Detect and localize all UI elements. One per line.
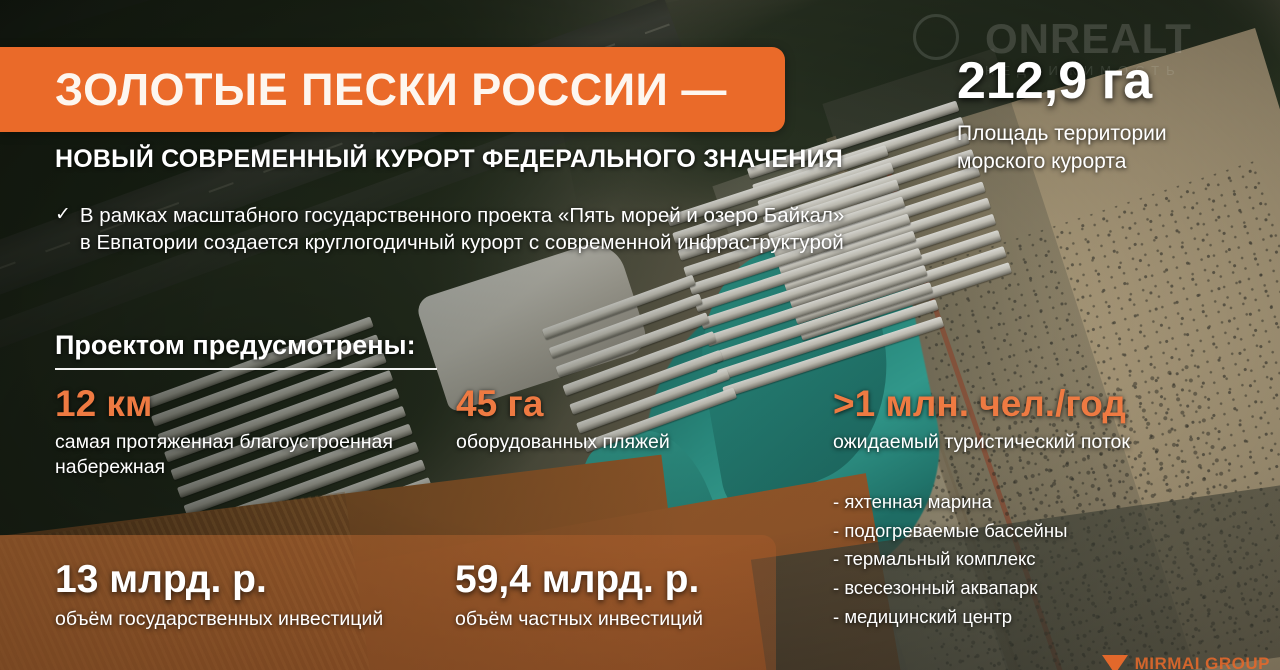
- page-title: ЗОЛОТЫЕ ПЕСКИ РОССИИ —: [55, 67, 727, 112]
- lead-paragraph: ✓ В рамках масштабного государственного …: [55, 202, 845, 256]
- list-item: - медицинский центр: [833, 603, 1067, 632]
- page-subtitle: НОВЫЙ СОВРЕМЕННЫЙ КУРОРТ ФЕДЕРАЛЬНОГО ЗН…: [55, 145, 843, 174]
- stat-embankment-value: 12 км: [55, 385, 415, 424]
- stat-beaches-value: 45 га: [456, 385, 676, 424]
- infographic-canvas: ONREALT НЕДВИЖИМОСТЬ MIRMAI GROUP ЗОЛОТЫ…: [0, 0, 1280, 670]
- feature-label: яхтенная марина: [844, 491, 992, 512]
- stat-tourist-flow-caption: ожидаемый туристический поток: [833, 430, 1263, 455]
- stat-area: 212,9 га Площадь территории морского кур…: [957, 55, 1257, 175]
- features-list: - яхтенная марина - подогреваемые бассей…: [833, 488, 1067, 631]
- investment-state: 13 млрд. р. объём государственных инвест…: [55, 560, 425, 632]
- section-heading-text: Проектом предусмотрены:: [55, 330, 416, 360]
- stat-embankment: 12 км самая протяженная благоустроенная …: [55, 385, 415, 481]
- dash-icon: -: [833, 577, 839, 598]
- investment-state-caption: объём государственных инвестиций: [55, 607, 425, 632]
- list-item: - термальный комплекс: [833, 545, 1067, 574]
- list-item: - яхтенная марина: [833, 488, 1067, 517]
- stat-tourist-flow-value: >1 млн. чел./год: [833, 385, 1263, 424]
- stat-area-caption: Площадь территории морского курорта: [957, 120, 1257, 175]
- stat-beaches: 45 га оборудованных пляжей: [456, 385, 676, 455]
- investment-private: 59,4 млрд. р. объём частных инвестиций: [455, 560, 785, 632]
- list-item: - подогреваемые бассейны: [833, 517, 1067, 546]
- dash-icon: -: [833, 520, 839, 541]
- infographic-content: ЗОЛОТЫЕ ПЕСКИ РОССИИ — НОВЫЙ СОВРЕМЕННЫЙ…: [0, 0, 1280, 670]
- dash-icon: -: [833, 491, 839, 512]
- list-item: - всесезонный аквапарк: [833, 574, 1067, 603]
- section-heading-rule: [55, 368, 437, 370]
- title-banner: ЗОЛОТЫЕ ПЕСКИ РОССИИ —: [0, 47, 785, 132]
- stat-beaches-caption: оборудованных пляжей: [456, 430, 676, 455]
- stat-tourist-flow: >1 млн. чел./год ожидаемый туристический…: [833, 385, 1263, 455]
- investment-private-caption: объём частных инвестиций: [455, 607, 785, 632]
- stat-embankment-caption: самая протяженная благоустроенная набере…: [55, 430, 415, 481]
- investment-private-value: 59,4 млрд. р.: [455, 560, 785, 601]
- dash-icon: -: [833, 606, 839, 627]
- stat-area-value: 212,9 га: [957, 55, 1257, 107]
- investment-state-value: 13 млрд. р.: [55, 560, 425, 601]
- feature-label: медицинский центр: [844, 606, 1012, 627]
- dash-icon: -: [833, 548, 839, 569]
- feature-label: термальный комплекс: [844, 548, 1035, 569]
- feature-label: всесезонный аквапарк: [844, 577, 1037, 598]
- checkmark-icon: ✓: [55, 202, 71, 256]
- section-heading: Проектом предусмотрены:: [55, 330, 437, 370]
- feature-label: подогреваемые бассейны: [844, 520, 1067, 541]
- lead-text: В рамках масштабного государственного пр…: [80, 202, 845, 256]
